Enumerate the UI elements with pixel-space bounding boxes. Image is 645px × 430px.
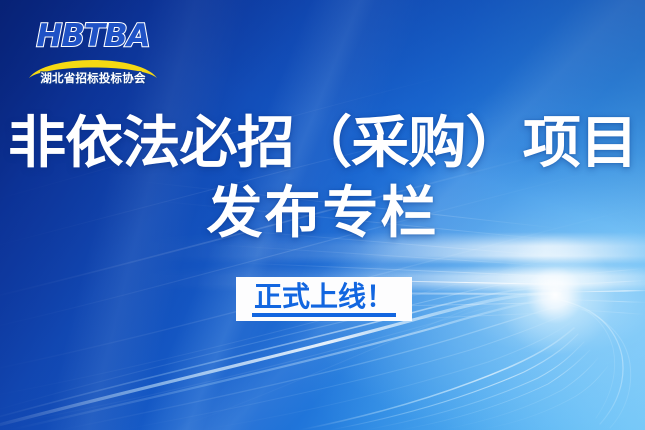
launch-status-badge: 正式上线！: [236, 277, 412, 321]
logo-organization-name: 湖北省招标投标协会: [26, 71, 160, 86]
launch-status-badge-label: 正式上线！: [252, 282, 396, 317]
promo-banner: HBTBA 湖北省招标投标协会 非依法必招（采购）项目 发布专栏 正式上线！: [0, 0, 645, 430]
headline-line-2: 发布专栏: [0, 182, 645, 246]
hbtba-logo: HBTBA 湖北省招标投标协会: [26, 16, 160, 90]
headline-line-1: 非依法必招（采购）项目: [0, 112, 645, 176]
headline-block: 非依法必招（采购）项目 发布专栏: [0, 112, 645, 246]
